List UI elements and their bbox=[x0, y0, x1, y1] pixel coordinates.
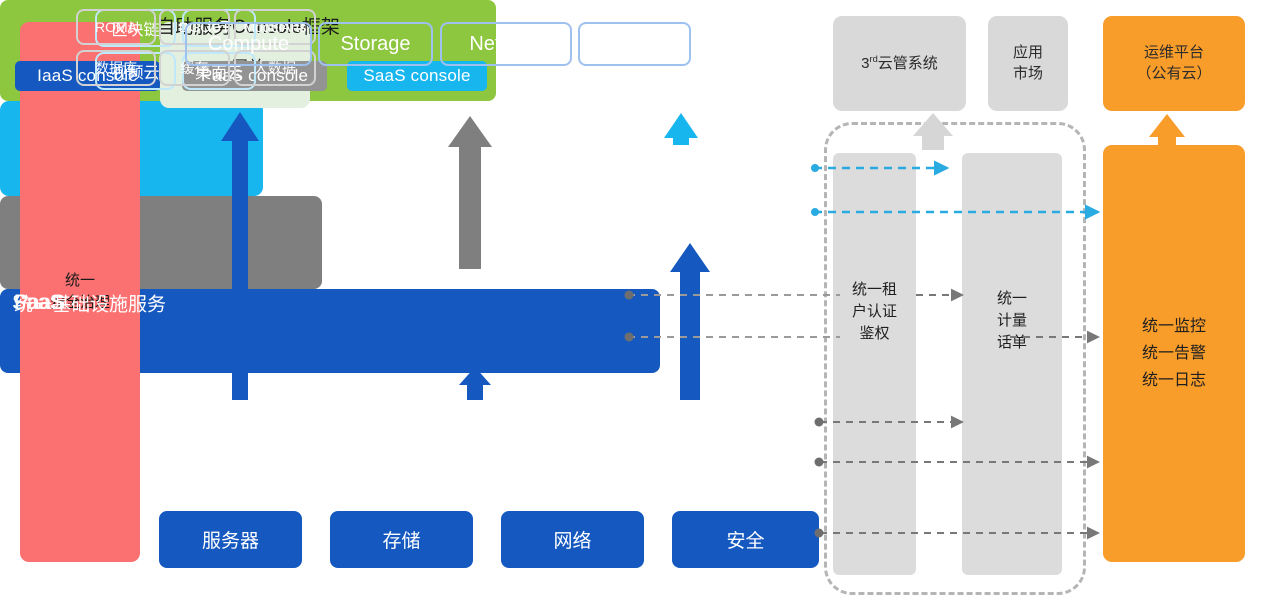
metering-line-3: 话单 bbox=[997, 332, 1027, 354]
unified-metering-billing-text: 统一 计量 话单 bbox=[997, 288, 1027, 353]
metering-line-2: 计量 bbox=[997, 310, 1027, 332]
paas-tile-roma[interactable]: ROMA bbox=[76, 9, 156, 45]
ops-alarm-line: 统一告警 bbox=[1142, 340, 1206, 367]
hardware-storage-label: 存储 bbox=[382, 526, 420, 553]
infra-tile-cce[interactable]: CCE bbox=[578, 22, 691, 66]
infra-bar-label: 统一基础设施服务 bbox=[14, 289, 166, 316]
infra-tile-network-label: Network bbox=[469, 33, 542, 56]
infra-tile-compute[interactable]: Compute bbox=[185, 22, 312, 66]
app-market-text: 应用 市场 bbox=[1013, 43, 1043, 84]
ops-platform-line-2: （公有云） bbox=[1136, 64, 1211, 84]
hardware-box-security[interactable]: 安全 bbox=[672, 511, 819, 568]
hardware-box-server[interactable]: 服务器 bbox=[159, 511, 302, 568]
infra-tile-storage-label: Storage bbox=[340, 33, 410, 56]
ops-log-line: 统一日志 bbox=[1142, 367, 1206, 394]
third-party-cloud-mgmt-text: 3rd云管系统 bbox=[861, 53, 938, 74]
auth-line-2: 户认证 bbox=[852, 301, 897, 323]
paas-tile-roma-label: ROMA bbox=[95, 19, 137, 35]
unified-tenant-auth-column: 统一租 户认证 鉴权 bbox=[833, 153, 916, 575]
unified-metering-billing-column: 统一 计量 话单 bbox=[962, 153, 1062, 575]
unified-tenant-auth-text: 统一租 户认证 鉴权 bbox=[852, 279, 897, 344]
hardware-server-label: 服务器 bbox=[202, 526, 259, 553]
unified-ops-column: 统一监控 统一告警 统一日志 bbox=[1103, 145, 1245, 562]
infra-tile-storage[interactable]: Storage bbox=[318, 22, 433, 66]
hardware-security-label: 安全 bbox=[726, 526, 764, 553]
paas-tile-database-label: 数据库 bbox=[95, 58, 137, 78]
third-party-superscript: rd bbox=[870, 54, 878, 64]
third-party-prefix: 3 bbox=[861, 55, 869, 72]
unified-ops-text: 统一监控 统一告警 统一日志 bbox=[1142, 313, 1206, 395]
third-party-cloud-mgmt-box: 3rd云管系统 bbox=[833, 16, 966, 111]
auth-line-1: 统一租 bbox=[852, 279, 897, 301]
hardware-box-storage[interactable]: 存储 bbox=[330, 511, 473, 568]
arrow-infra-to-saas bbox=[670, 243, 710, 400]
hardware-network-label: 网络 bbox=[553, 526, 591, 553]
arrow-saas-to-saas-console bbox=[664, 113, 698, 145]
ops-platform-public-cloud-box: 运维平台 （公有云） bbox=[1103, 16, 1245, 111]
arrow-ops-column-to-ops-platform bbox=[1149, 114, 1185, 146]
ops-platform-text: 运维平台 （公有云） bbox=[1136, 43, 1211, 84]
hardware-box-network[interactable]: 网络 bbox=[501, 511, 644, 568]
infra-tile-network[interactable]: Network bbox=[440, 22, 572, 66]
metering-line-1: 统一 bbox=[997, 288, 1027, 310]
infra-tile-compute-label: Compute bbox=[208, 33, 289, 56]
architecture-diagram: 统一 安全治理 API网关 自助服务Console框架 IaaS console… bbox=[0, 0, 1265, 605]
app-market-line-2: 市场 bbox=[1013, 64, 1043, 84]
infra-tile-cce-label: CCE bbox=[613, 33, 655, 56]
auth-line-3: 鉴权 bbox=[852, 323, 897, 345]
app-market-box: 应用 市场 bbox=[988, 16, 1068, 111]
app-market-line-1: 应用 bbox=[1013, 43, 1043, 63]
ops-monitor-line: 统一监控 bbox=[1142, 313, 1206, 340]
paas-tile-database[interactable]: 数据库 bbox=[76, 50, 156, 86]
third-party-suffix: 云管系统 bbox=[878, 55, 938, 72]
ops-platform-line-1: 运维平台 bbox=[1136, 43, 1211, 63]
saas-console-label: SaaS console bbox=[363, 66, 470, 86]
arrow-paas-to-console bbox=[448, 116, 492, 269]
